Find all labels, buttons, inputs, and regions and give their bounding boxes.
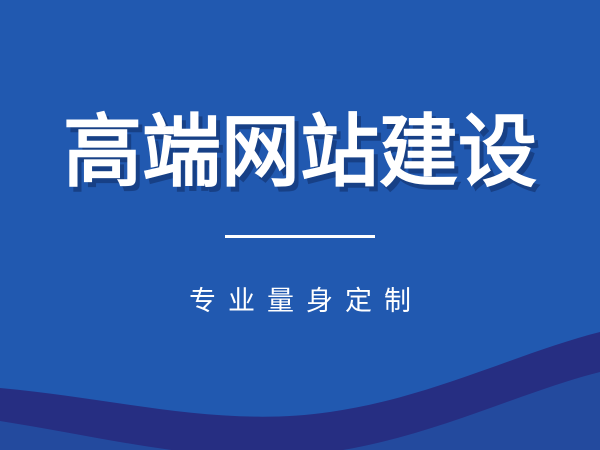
headline-divider [225,235,375,238]
promo-banner: 高端网站建设 专业量身定制 [0,0,600,450]
banner-subheadline: 专业量身定制 [177,288,423,315]
banner-headline: 高端网站建设 [63,112,537,191]
banner-content: 高端网站建设 专业量身定制 [0,0,600,450]
